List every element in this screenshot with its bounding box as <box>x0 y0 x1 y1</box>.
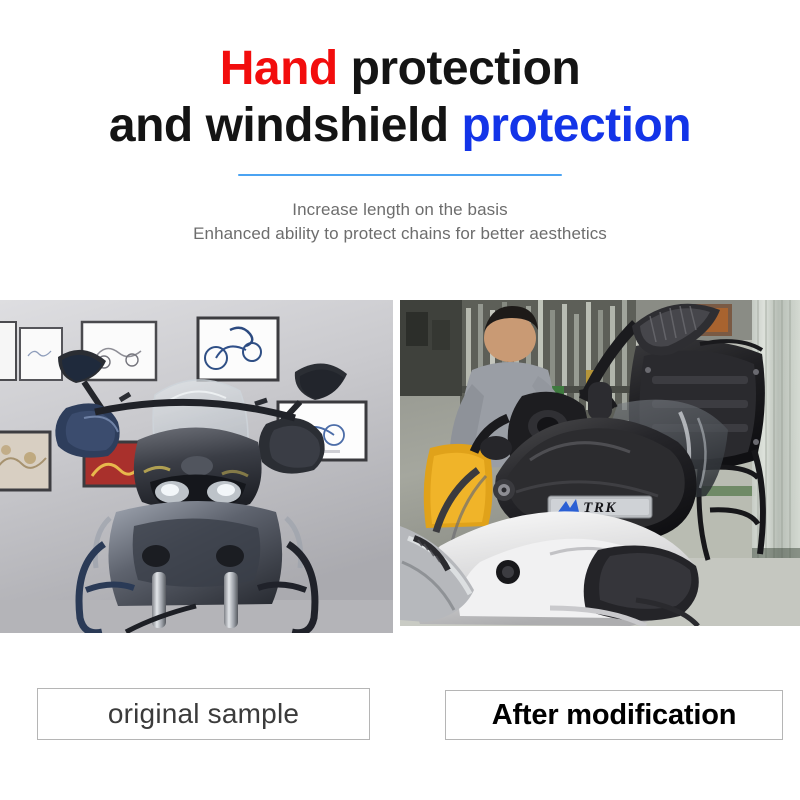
headline-line-2: and windshield protection <box>0 101 800 152</box>
caption-label-original: original sample <box>108 698 299 730</box>
headline-line-1: Hand protection <box>0 44 800 95</box>
headline-accent-protection: protection <box>461 99 691 152</box>
caption-label-modified: After modification <box>492 699 737 732</box>
headline-accent-hand: Hand <box>220 42 338 95</box>
comparison-photo-strip: TRK <box>0 300 800 633</box>
subtitle-line-2: Enhanced ability to protect chains for b… <box>0 222 800 247</box>
photo-left-illustration <box>0 300 393 633</box>
subtitle-line-1: Increase length on the basis <box>0 198 800 223</box>
caption-row: original sample After modification <box>0 686 800 746</box>
photo-original-sample <box>0 300 393 633</box>
photo-after-modification: TRK <box>400 300 800 626</box>
photo-right-illustration: TRK <box>400 300 800 626</box>
caption-box-original: original sample <box>37 688 370 740</box>
section-divider <box>238 174 562 176</box>
caption-box-modified: After modification <box>445 690 783 740</box>
headline-rest-2: and windshield <box>109 99 462 152</box>
headline-rest-1: protection <box>338 42 581 95</box>
subtitle-block: Increase length on the basis Enhanced ab… <box>0 198 800 247</box>
divider-wrapper <box>0 174 800 176</box>
page-title: Hand protection and windshield protectio… <box>0 0 800 152</box>
photo-gap <box>393 300 400 633</box>
